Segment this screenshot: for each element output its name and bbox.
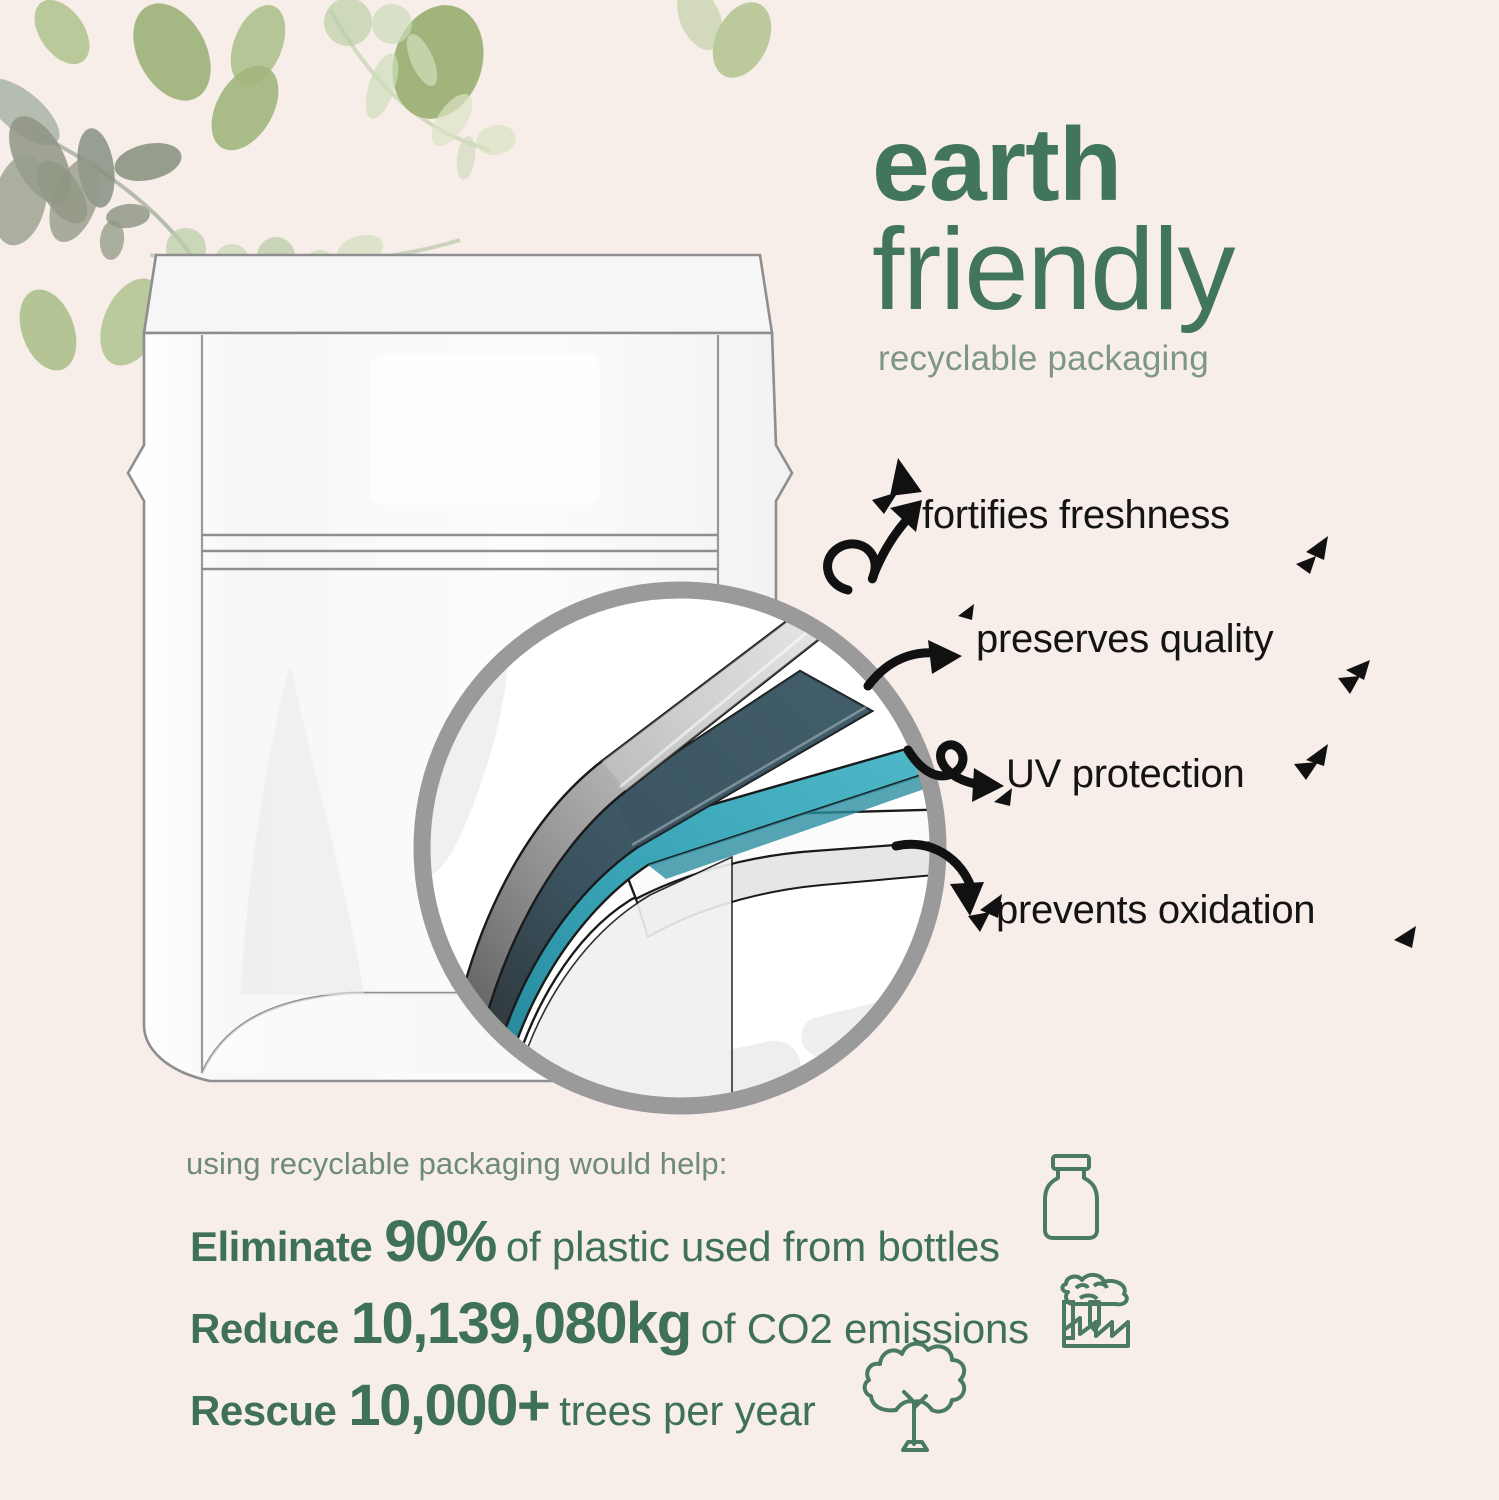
spark-mark-icon <box>1284 740 1334 786</box>
feature-label-preserves-quality: preserves quality <box>976 617 1273 662</box>
stat-number: 90% <box>384 1208 496 1275</box>
headline-line-earth: earth <box>872 118 1472 214</box>
feature-label-uv-protection: UV protection <box>1006 752 1244 797</box>
stat-row-eliminate: Eliminate 90% of plastic used from bottl… <box>190 1208 1000 1275</box>
feature-label-fortifies-freshness: fortifies freshness <box>922 493 1230 538</box>
stat-tail: of CO2 emissions <box>701 1305 1029 1353</box>
stat-number: 10,139,080kg <box>351 1290 691 1357</box>
stats-intro-text: using recyclable packaging would help: <box>186 1146 727 1182</box>
headline-block: earth friendly recyclable packaging <box>872 118 1472 379</box>
stat-tail: of plastic used from bottles <box>506 1223 1000 1271</box>
headline-subtitle: recyclable packaging <box>878 339 1472 379</box>
stat-row-rescue: Rescue 10,000+ trees per year <box>190 1372 816 1439</box>
stat-number: 10,000+ <box>348 1372 549 1439</box>
stat-verb: Eliminate <box>190 1223 372 1271</box>
stat-tail: trees per year <box>559 1387 815 1435</box>
stat-row-reduce: Reduce 10,139,080kg of CO2 emissions <box>190 1290 1029 1357</box>
spark-mark-icon <box>1326 648 1376 698</box>
spark-mark-icon <box>1288 530 1338 580</box>
bottle-icon <box>1036 1152 1106 1242</box>
stat-verb: Rescue <box>190 1387 336 1435</box>
magnified-film-layers <box>380 555 980 1145</box>
stat-verb: Reduce <box>190 1305 339 1353</box>
feature-label-prevents-oxidation: prevents oxidation <box>996 888 1315 933</box>
factory-icon <box>1050 1262 1146 1350</box>
spark-mark-icon <box>1378 920 1424 962</box>
headline-line-friendly: friendly <box>872 214 1472 325</box>
earth-friendly-packaging-infographic: earth friendly recyclable packaging fort… <box>0 0 1499 1500</box>
